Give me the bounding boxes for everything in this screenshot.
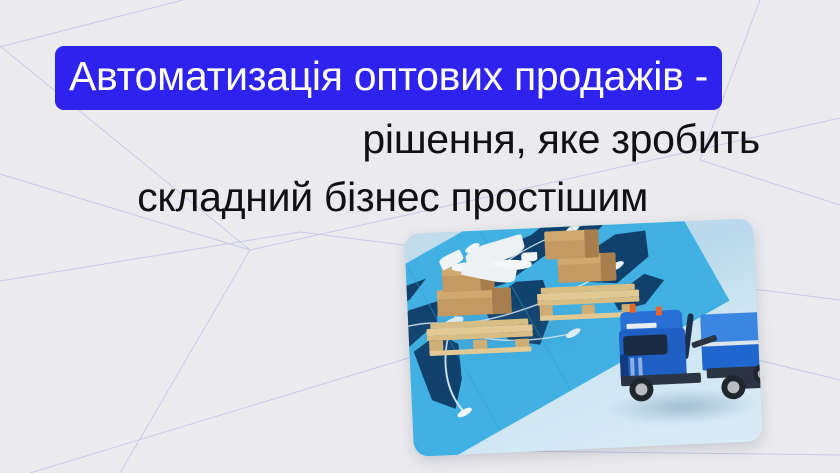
banner-canvas: Автоматизація оптових продажів - рішення…	[0, 0, 840, 473]
headline-line-2: рішення, яке зробить	[0, 110, 800, 168]
blue-toy-truck	[607, 289, 763, 407]
hero-photo-card	[404, 218, 763, 457]
truck-wheel	[721, 375, 746, 400]
truck-wheel	[629, 377, 654, 402]
headline-line-3: складний бізнес простішим	[0, 168, 800, 226]
model-airplane	[435, 238, 539, 289]
cardboard-box	[544, 229, 599, 259]
page-title: Автоматизація оптових продажів - рішення…	[0, 46, 840, 226]
hero-photo	[404, 218, 763, 457]
headline-line-1: Автоматизація оптових продажів -	[0, 46, 800, 110]
headline-highlight: Автоматизація оптових продажів -	[55, 46, 722, 110]
